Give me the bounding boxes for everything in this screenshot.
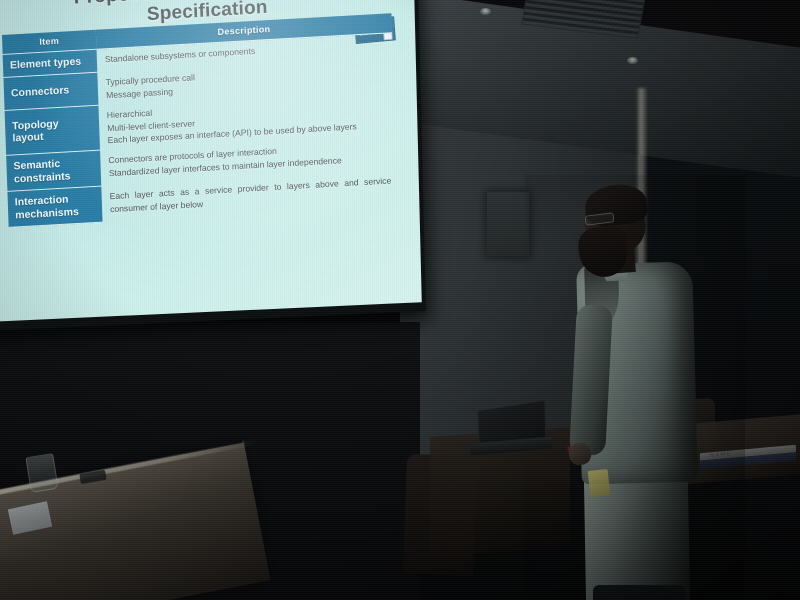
- row-item-label-line: layout: [12, 130, 59, 145]
- chair: [403, 454, 477, 576]
- presenter-badge: [588, 469, 611, 497]
- row-item-label: Semantic constraints: [6, 151, 101, 192]
- ceiling-spotlight-icon: [627, 57, 638, 64]
- row-item-label: Interaction mechanisms: [7, 187, 102, 228]
- projected-slide: Proposed Architectural Style Specificati…: [0, 0, 422, 322]
- specification-table: Item Description Element types Standalon…: [2, 13, 398, 228]
- ceiling-spotlight-icon: [480, 8, 491, 15]
- wall-panel: [487, 192, 529, 256]
- row-item-label-line: constraints: [14, 170, 71, 186]
- projection-screen: Proposed Architectural Style Specificati…: [0, 0, 426, 331]
- presenter-legs: [593, 585, 685, 600]
- presentation-room-photo: Proposed Architectural Style Specificati…: [0, 0, 800, 600]
- row-item-label: Connectors: [3, 73, 98, 111]
- presenter: [545, 185, 725, 600]
- drinking-glass: [25, 453, 58, 493]
- row-item-label: Topology layout: [5, 106, 100, 157]
